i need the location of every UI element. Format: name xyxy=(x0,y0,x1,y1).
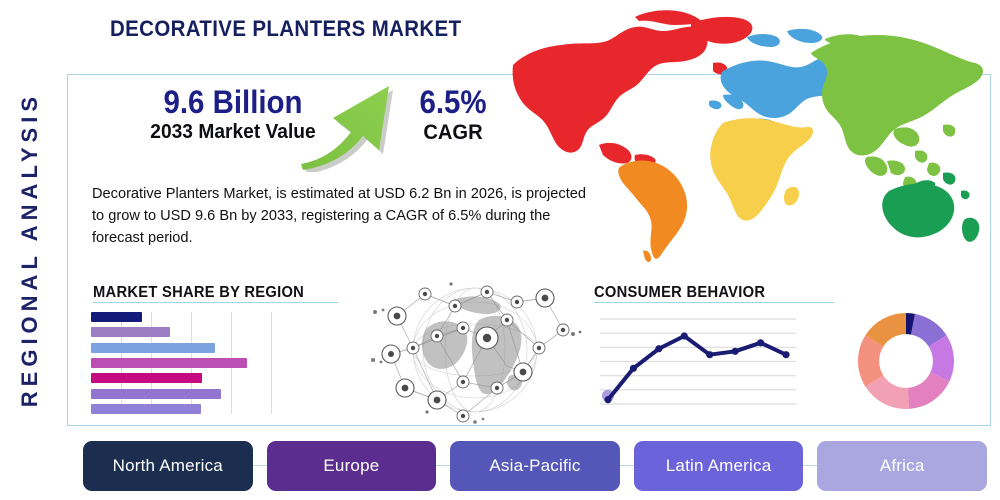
world-map-graphic xyxy=(495,5,995,265)
market-share-title-rule xyxy=(93,302,338,303)
segment-donut-chart xyxy=(856,311,956,411)
line-chart-point xyxy=(706,351,713,358)
line-chart-point xyxy=(655,345,662,352)
regional-analysis-side-label: REGIONAL ANALYSIS xyxy=(0,0,60,500)
bar-chart-bar xyxy=(91,358,247,368)
growth-arrow-icon xyxy=(293,80,403,172)
consumer-behavior-line-chart xyxy=(600,311,796,414)
map-oceania xyxy=(882,172,979,241)
consumer-behavior-title-rule xyxy=(594,302,834,303)
region-button-europe[interactable]: Europe xyxy=(267,441,437,491)
bar-chart-bar xyxy=(91,312,142,322)
line-chart-point xyxy=(604,396,611,403)
map-africa xyxy=(710,118,813,220)
region-button-africa[interactable]: Africa xyxy=(817,441,987,491)
region-button-asia-pacific[interactable]: Asia-Pacific xyxy=(450,441,620,491)
side-label-text: REGIONAL ANALYSIS xyxy=(17,92,43,407)
region-button-north-america[interactable]: North America xyxy=(83,441,253,491)
region-button-latin-america[interactable]: Latin America xyxy=(634,441,804,491)
region-connector xyxy=(436,441,450,491)
bar-chart-bar xyxy=(91,404,201,414)
global-network-graphic xyxy=(367,276,585,424)
market-share-bar-chart xyxy=(91,312,319,414)
region-connector xyxy=(803,441,817,491)
region-connector xyxy=(253,441,267,491)
map-europe xyxy=(709,29,845,133)
line-chart-point xyxy=(630,365,637,372)
region-connector xyxy=(620,441,634,491)
page-title: DECORATIVE PLANTERS MARKET xyxy=(110,16,461,42)
bar-chart-bar xyxy=(91,327,170,337)
market-share-section-title: MARKET SHARE BY REGION xyxy=(93,284,304,302)
region-button-row: North AmericaEuropeAsia-PacificLatin Ame… xyxy=(83,441,987,491)
map-south-america xyxy=(618,161,687,263)
bar-chart-bars xyxy=(91,312,319,414)
line-chart-point xyxy=(681,332,688,339)
line-chart-point xyxy=(732,348,739,355)
consumer-behavior-section-title: CONSUMER BEHAVIOR xyxy=(594,284,765,302)
line-chart-point xyxy=(757,339,764,346)
bar-chart-bar xyxy=(91,373,202,383)
bar-chart-bar xyxy=(91,389,221,399)
map-asia xyxy=(811,34,983,190)
line-chart-point xyxy=(782,351,789,358)
bar-chart-bar xyxy=(91,343,215,353)
